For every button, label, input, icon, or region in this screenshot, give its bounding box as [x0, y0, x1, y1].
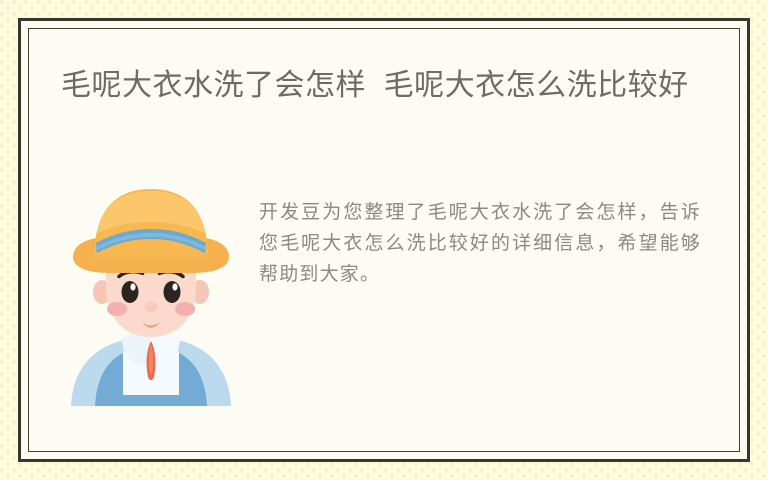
article-card-frame: 毛呢大衣水洗了会怎样 毛呢大衣怎么洗比较好: [18, 18, 750, 462]
cheek-left: [107, 302, 127, 316]
straw-hat: [73, 189, 229, 273]
page-root: { "page": { "title": "毛呢大衣水洗了会怎样 毛呢大衣怎么洗…: [0, 0, 768, 480]
nose-shadow: [144, 302, 158, 312]
eye-right-highlight: [172, 283, 177, 290]
article-card-inner: 毛呢大衣水洗了会怎样 毛呢大衣怎么洗比较好: [28, 28, 740, 452]
page-title: 毛呢大衣水洗了会怎样 毛呢大衣怎么洗比较好: [61, 64, 691, 108]
content-row: 开发豆为您整理了毛呢大衣水洗了会怎样，告诉您毛呢大衣怎么洗比较好的详细信息，希望…: [29, 181, 739, 406]
eye-left: [122, 281, 139, 303]
boy-with-straw-hat-illustration: [65, 181, 237, 406]
eye-left-highlight: [130, 283, 135, 290]
article-body-text: 开发豆为您整理了毛呢大衣水洗了会怎样，告诉您毛呢大衣怎么洗比较好的详细信息，希望…: [259, 197, 701, 290]
cheek-right: [175, 302, 195, 316]
eye-right: [164, 281, 181, 303]
overalls-group: [71, 329, 231, 406]
